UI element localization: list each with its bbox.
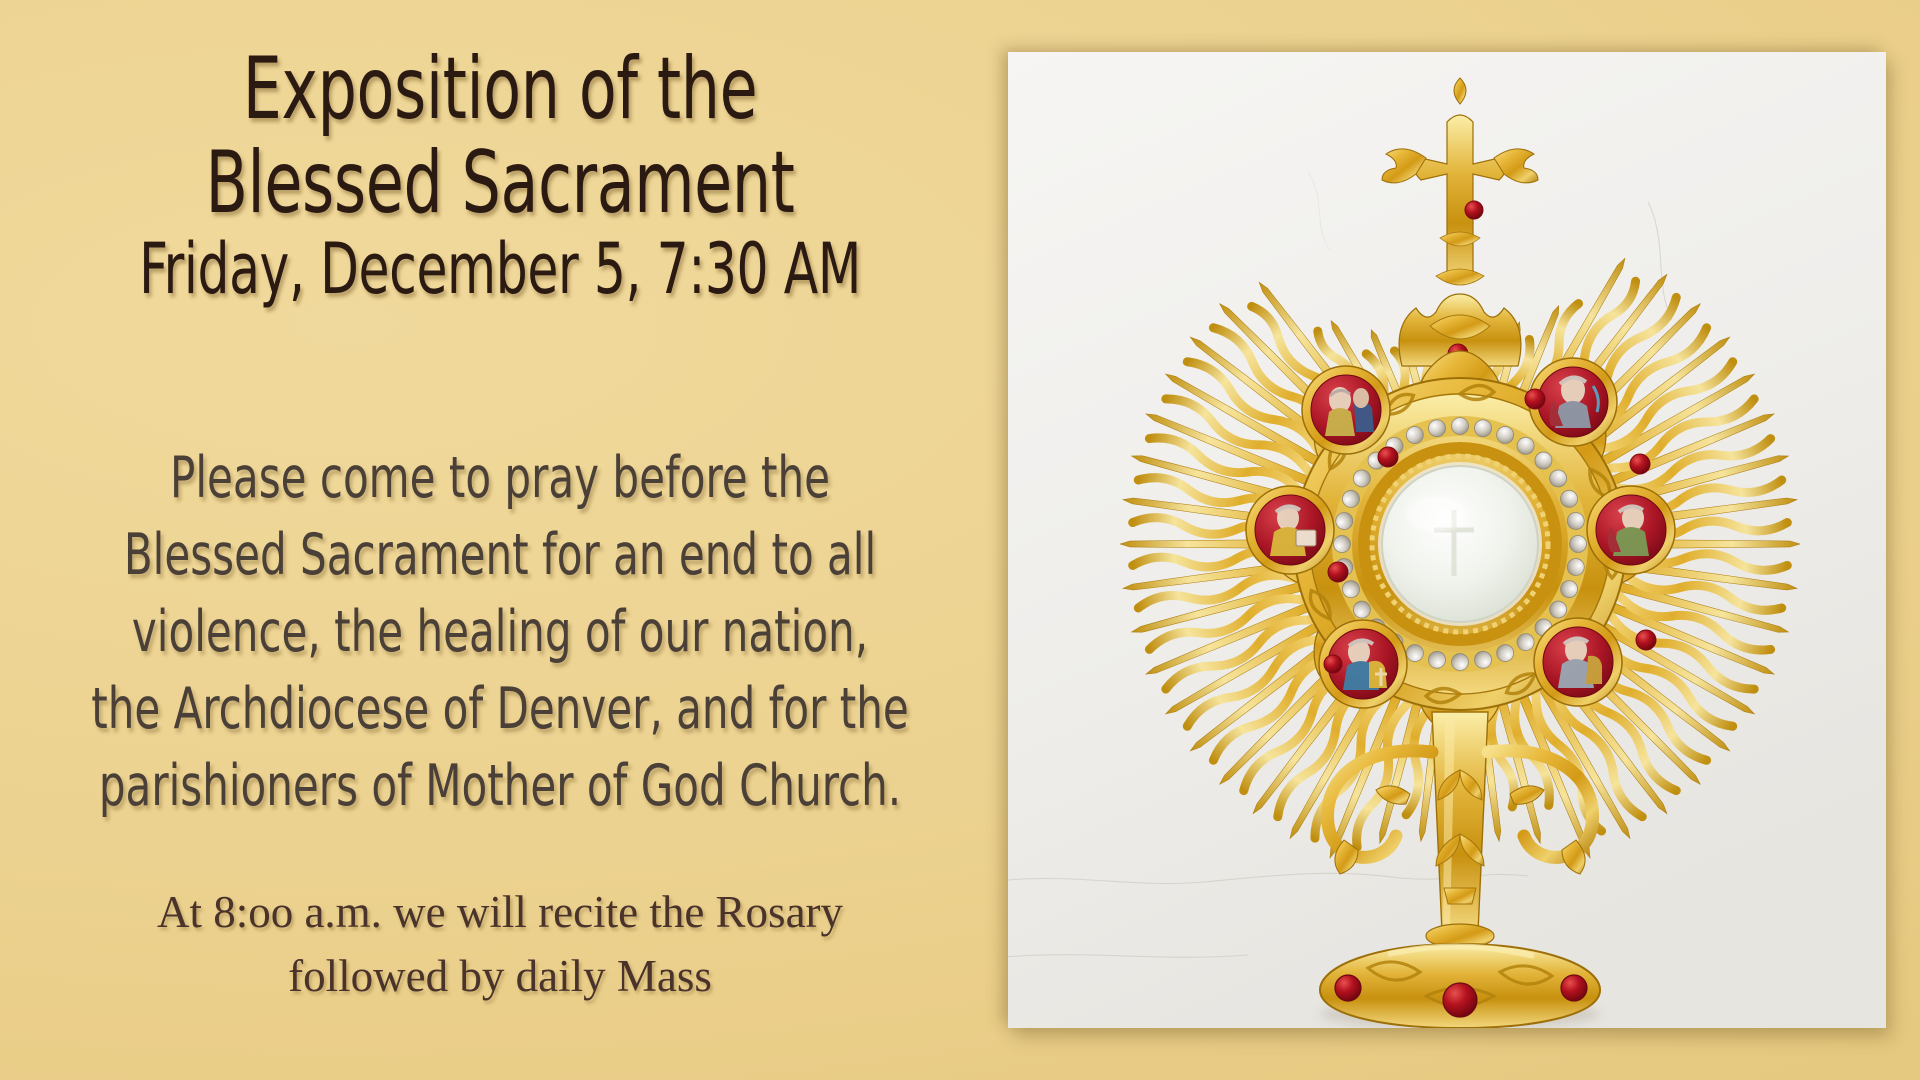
body-paragraph: Please come to pray before the Blessed S… (90, 440, 910, 825)
medallion (1587, 486, 1675, 574)
poster-canvas: Exposition of the Blessed Sacrament Frid… (0, 0, 1920, 1080)
footer-line: followed by daily Mass (0, 944, 1000, 1008)
body-line: the Archdiocese of Denver, and for the (90, 671, 910, 748)
headline-line-2: Blessed Sacrament (100, 140, 900, 226)
medallion (1302, 366, 1390, 454)
ruby-gem (1465, 201, 1483, 219)
headline-date-time: Friday, December 5, 7:30 AM (100, 234, 900, 304)
footer-line: At 8:oo a.m. we will recite the Rosary (0, 880, 1000, 944)
body-line: Blessed Sacrament for an end to all (90, 517, 910, 594)
monstrance-base (1320, 944, 1600, 1028)
monstrance-photo (1008, 52, 1886, 1028)
medallion (1246, 486, 1334, 574)
footer-paragraph: At 8:oo a.m. we will recite the Rosary f… (0, 880, 1000, 1008)
body-line: parishioners of Mother of God Church. (90, 748, 910, 825)
body-line: Please come to pray before the (90, 440, 910, 517)
text-column: Exposition of the Blessed Sacrament Frid… (0, 0, 1000, 1080)
headline-line-1: Exposition of the (100, 46, 900, 132)
medallion (1534, 618, 1622, 706)
body-line: violence, the healing of our nation, (90, 594, 910, 671)
monstrance-illustration (1008, 52, 1886, 1028)
host-luna (1382, 466, 1538, 622)
